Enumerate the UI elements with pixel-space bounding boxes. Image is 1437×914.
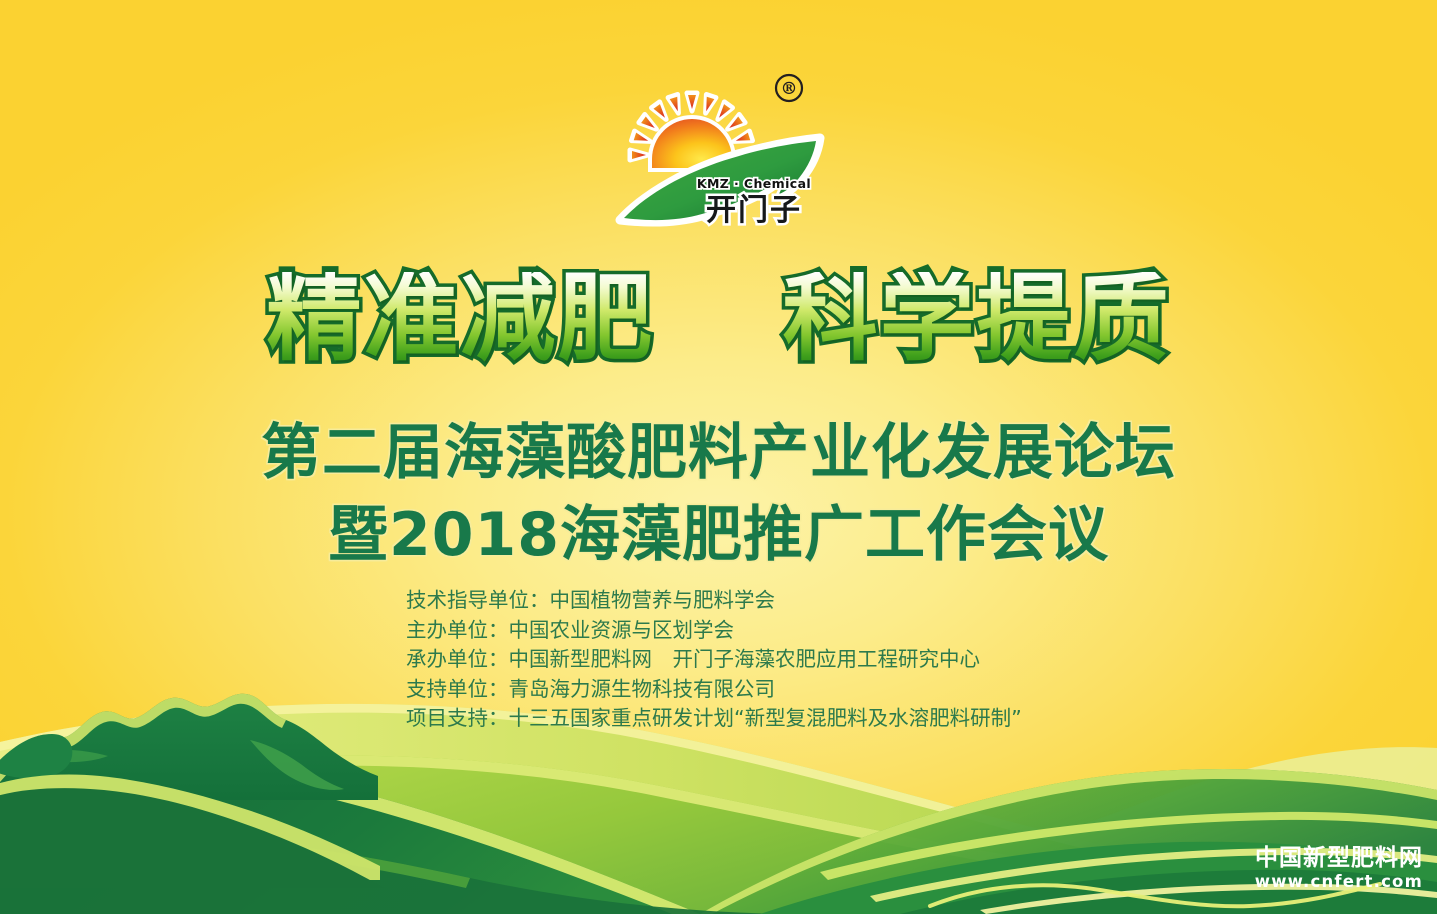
brand-logo: ® KMZ · Chemical 开门子 xyxy=(0,60,1437,250)
poster-canvas: ® KMZ · Chemical 开门子 精准减肥 精准减肥 科学提质 科学提质… xyxy=(0,0,1437,914)
registered-mark-icon: ® xyxy=(776,75,802,101)
headline-part-2: 科学提质 科学提质 xyxy=(783,272,1171,367)
headline-part-1: 精准减肥 精准减肥 xyxy=(266,272,654,367)
credits-block: 技术指导单位：中国植物营养与肥料学会 主办单位：中国农业资源与区划学会 承办单位… xyxy=(406,586,1022,734)
credit-line-organizer: 主办单位：中国农业资源与区划学会 xyxy=(406,616,1022,646)
watermark: 中国新型肥料网 www.cnfert.com xyxy=(1255,845,1423,892)
subtitle-line-1: 第二届海藻酸肥料产业化发展论坛 xyxy=(0,404,1437,491)
headline-part-1-fill: 精准减肥 xyxy=(266,272,654,367)
watermark-url: www.cnfert.com xyxy=(1255,872,1423,892)
watermark-site-name: 中国新型肥料网 xyxy=(1255,845,1423,872)
headline: 精准减肥 精准减肥 科学提质 科学提质 xyxy=(0,272,1437,367)
credit-line-undertaker: 承办单位：中国新型肥料网 开门子海藻农肥应用工程研究中心 xyxy=(406,645,1022,675)
subtitle-line-2: 暨2018海藻肥推广工作会议 xyxy=(0,486,1437,573)
credit-line-supporter: 支持单位：青岛海力源生物科技有限公司 xyxy=(406,675,1022,705)
headline-part-2-fill: 科学提质 xyxy=(783,272,1171,367)
registered-mark-glyph: ® xyxy=(780,79,797,99)
credit-line-technical-guidance: 技术指导单位：中国植物营养与肥料学会 xyxy=(406,586,1022,616)
credit-line-project-support: 项目支持：十三五国家重点研发计划“新型复混肥料及水溶肥料研制” xyxy=(406,704,1022,734)
kmz-logo-mark: ® KMZ · Chemical 开门子 xyxy=(604,60,834,245)
brand-lockup: KMZ · Chemical 开门子 xyxy=(696,176,810,228)
brand-name-cn: 开门子 xyxy=(706,193,802,228)
brand-name-en: KMZ · Chemical xyxy=(696,176,810,191)
